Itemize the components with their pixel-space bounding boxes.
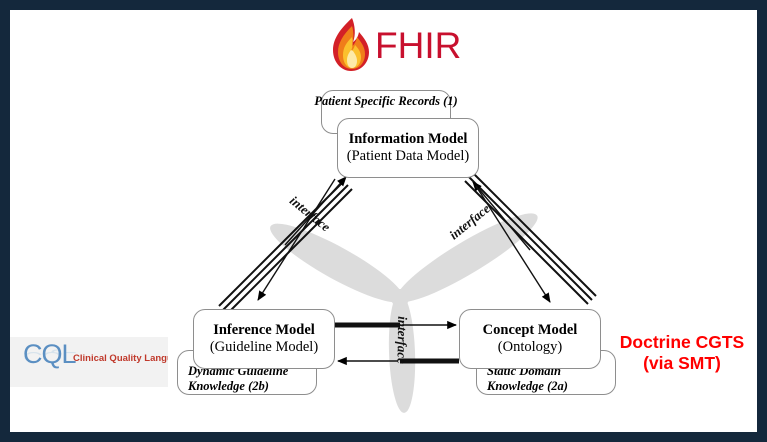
fhir-logo: FHIR xyxy=(328,14,461,76)
cql-tagline: Clinical Quality Language xyxy=(73,353,168,364)
fhir-wordmark: FHIR xyxy=(375,27,461,64)
node-concept-subtitle: (Ontology) xyxy=(498,339,562,356)
node-concept-model[interactable]: Concept Model (Ontology) xyxy=(459,309,601,369)
node-inference-model[interactable]: Inference Model (Guideline Model) xyxy=(193,309,335,369)
cql-logo: CQL CQL Clinical Quality Language xyxy=(10,337,168,387)
node-information-model[interactable]: Information Model (Patient Data Model) xyxy=(337,118,479,178)
node-inference-title: Inference Model xyxy=(213,322,315,339)
node-concept-title: Concept Model xyxy=(483,322,578,339)
diagram-canvas: FHIR Patient Specific Records (1) Inform… xyxy=(0,0,767,442)
flame-icon xyxy=(328,17,372,73)
node-information-title: Information Model xyxy=(349,131,468,148)
cql-wordmark: CQL xyxy=(23,341,76,368)
doctrine-cgts-line1: Doctrine CGTS xyxy=(608,332,756,353)
doctrine-cgts-line2: (via SMT) xyxy=(608,353,756,374)
ghost-label-dynamic-guideline-line2: Knowledge (2b) xyxy=(188,379,316,394)
diagram-stage: FHIR Patient Specific Records (1) Inform… xyxy=(10,10,757,432)
doctrine-cgts-label: Doctrine CGTS (via SMT) xyxy=(608,332,756,375)
node-inference-subtitle: (Guideline Model) xyxy=(210,339,318,356)
ghost-label-static-domain-line2: Knowledge (2a) xyxy=(487,379,615,394)
ghost-label-patient-records: Patient Specific Records (1) xyxy=(314,94,457,109)
node-information-subtitle: (Patient Data Model) xyxy=(347,148,469,165)
interface-label-bottom: interface xyxy=(393,316,410,364)
